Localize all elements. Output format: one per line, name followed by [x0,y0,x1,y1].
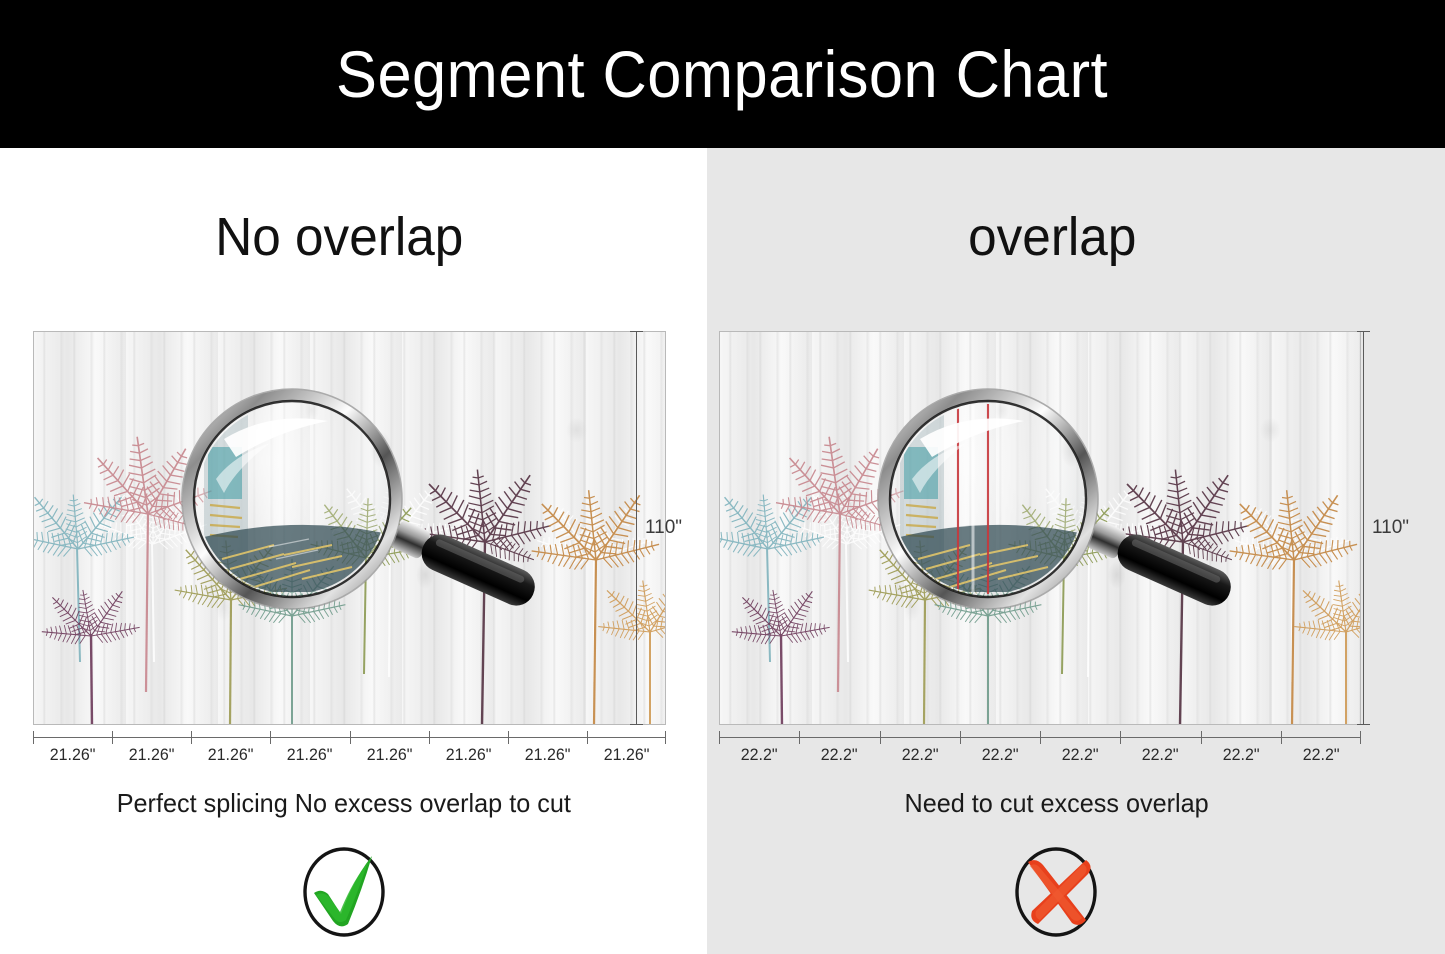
segment-tick [1040,731,1041,744]
segment-label: 21.26" [589,745,663,765]
green-check-icon [292,838,396,942]
segment-label: 22.2" [882,745,957,765]
segment-label: 22.2" [1123,745,1198,765]
segment-tick [350,731,351,744]
segment-dimensions-right: 22.2" 22.2" 22.2" 22.2" 22.2" [719,731,1361,771]
segment-label: 21.26" [194,745,268,765]
height-dimension-line [636,331,637,725]
segment-tick [112,731,113,744]
segment-item: 22.2" [880,731,960,765]
segment-tick-end [665,731,666,744]
caption-right: Need to cut excess overlap [718,788,1434,819]
segment-label: 21.26" [273,745,347,765]
segment-tick [587,731,588,744]
segment-tick-end [1360,731,1361,744]
height-dimension-cap-top [630,331,643,332]
panel-no-overlap: No overlap [0,148,707,954]
page-title: Segment Comparison Chart [337,36,1109,112]
segment-tick [719,731,720,744]
segment-item: 22.2" [1040,731,1120,765]
magnifier-left [174,387,604,632]
segment-tick [429,731,430,744]
segment-tick [1281,731,1282,744]
segment-tick [880,731,881,744]
segment-label: 22.2" [802,745,877,765]
comparison-panels: No overlap [0,148,1445,954]
segment-item: 22.2" [719,731,799,765]
status-icon-left [0,838,707,942]
segment-label: 21.26" [114,745,188,765]
segment-item: 22.2" [960,731,1040,765]
height-label-right: 110" [1372,517,1409,539]
segment-tick [960,731,961,744]
segment-item: 21.26" [429,731,508,765]
title-banner: Segment Comparison Chart [0,0,1445,148]
segment-label: 22.2" [1283,745,1358,765]
segment-item: 22.2" [1120,731,1200,765]
segment-label: 22.2" [1042,745,1117,765]
panel-heading-left: No overlap [18,206,690,268]
magnifier-right [870,387,1300,632]
segment-item: 22.2" [799,731,879,765]
segment-label: 21.26" [352,745,426,765]
mural-canvas-right [719,331,1361,725]
segment-tick [508,731,509,744]
height-dimension-cap-bottom [1357,724,1370,725]
caption-left: Perfect splicing No excess overlap to cu… [11,788,697,819]
segment-item: 21.26" [191,731,270,765]
segment-label: 22.2" [962,745,1037,765]
segment-tick [191,731,192,744]
status-icon-right [707,838,1445,942]
segment-list-right: 22.2" 22.2" 22.2" 22.2" 22.2" [719,731,1361,765]
mural-image-right [719,331,1361,725]
segment-label: 21.26" [35,745,109,765]
segment-tick [1120,731,1121,744]
segment-item: 22.2" [1201,731,1281,765]
mural-image-left [33,331,666,725]
segment-item: 21.26" [33,731,112,765]
segment-item: 21.26" [508,731,587,765]
panel-heading-right: overlap [725,206,1426,268]
segment-item: 21.26" [350,731,429,765]
segment-tick [799,731,800,744]
segment-tick [33,731,34,744]
segment-tick [270,731,271,744]
height-label-left: 110" [645,517,682,539]
height-dimension-line [1363,331,1364,725]
height-dimension-cap-bottom [630,724,643,725]
segment-list-left: 21.26" 21.26" 21.26" 21.26" 21.26" [33,731,666,765]
segment-dimensions-left: 21.26" 21.26" 21.26" 21.26" 21.26" [33,731,666,771]
segment-item: 21.26" [112,731,191,765]
panel-overlap: overlap [707,148,1445,954]
segment-item: 21.26" [587,731,666,765]
segment-item: 22.2" [1281,731,1361,765]
segment-label: 21.26" [431,745,505,765]
segment-label: 21.26" [510,745,584,765]
segment-label: 22.2" [1203,745,1278,765]
segment-label: 22.2" [721,745,796,765]
height-dimension-cap-top [1357,331,1370,332]
mural-canvas-left [33,331,666,725]
red-cross-icon [1004,838,1108,942]
segment-tick [1201,731,1202,744]
segment-item: 21.26" [270,731,349,765]
